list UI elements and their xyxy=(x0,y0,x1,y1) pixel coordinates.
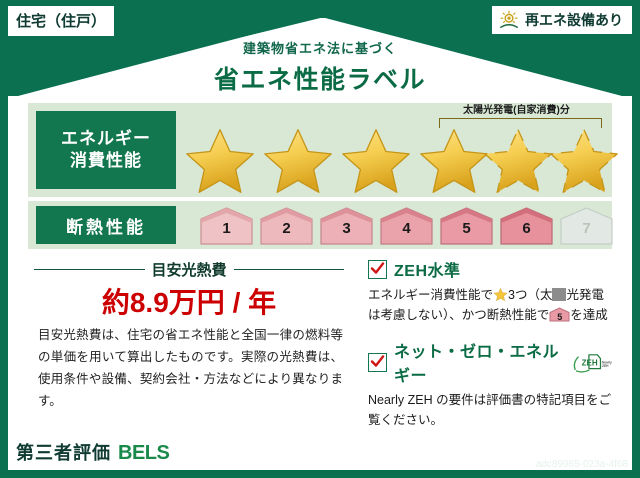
solar-bracket-label: 太陽光発電(自家消費)分 xyxy=(429,105,604,117)
insulation-badge-2: 2 xyxy=(258,205,315,245)
insulation-badge-3: 3 xyxy=(318,205,375,245)
inline-star-icon xyxy=(493,287,508,302)
renewable-energy-label: 再エネ設備あり xyxy=(525,10,623,30)
insulation-badge-5: 5 xyxy=(438,205,495,245)
cost-heading: 目安光熱費 xyxy=(152,259,227,280)
footer-left: 第三者評価 BELS Verde 302 xyxy=(8,435,252,470)
header-subtitle: 建築物省エネ法に基づく xyxy=(0,38,640,57)
check-icon xyxy=(370,354,385,369)
cost-value: 約8.9万円 / 年 xyxy=(34,281,344,321)
building-name: Verde xyxy=(186,445,221,460)
insulation-badge-3-num: 3 xyxy=(318,220,375,237)
star-1 xyxy=(182,125,258,197)
zeh-house-logo: ZEH Nearly ZEH xyxy=(572,351,612,374)
energy-performance-row: エネルギー 消費性能 太陽光発電(自家消費)分 xyxy=(28,103,612,197)
star-6-solar xyxy=(546,125,622,197)
cost-note: 目安光熱費は、住宅の省エネ性能と全国一律の燃料等の単価を用いて算出したものです。… xyxy=(38,325,343,413)
insulation-badge-4: 4 xyxy=(378,205,435,245)
bels-jp-label: 第三者評価 xyxy=(16,439,111,465)
insulation-badge-2-num: 2 xyxy=(258,220,315,237)
energy-label-line2: 消費性能 xyxy=(70,150,142,172)
insulation-badge-6: 6 xyxy=(498,205,555,245)
svg-text:ZEH: ZEH xyxy=(582,358,598,367)
bels-energy-label: 住宅（住戸） 再エネ設備あり 建築物省エネ法に基づく 省エネ性能ラベル xyxy=(0,0,640,478)
zeh-netzero-row: ネット・ゼロ・エネルギー ZEH Nearly ZEH xyxy=(368,338,612,386)
evaluation-date: 評価日 2025年11月26日 xyxy=(468,436,628,457)
solar-self-consumption-bracket: 太陽光発電(自家消費)分 xyxy=(429,105,604,127)
insulation-badge-5-num: 5 xyxy=(438,220,495,237)
renewable-energy-badge: 再エネ設備あり xyxy=(492,6,632,34)
energy-star-rating: 太陽光発電(自家消費)分 xyxy=(180,103,612,197)
inline-badge-num: 5 xyxy=(549,310,570,324)
zeh-desc-part1: エネルギー消費性能で xyxy=(368,288,493,302)
inline-insulation-badge: 5 xyxy=(549,307,570,322)
label-header: 建築物省エネ法に基づく 省エネ性能ラベル xyxy=(0,38,640,96)
header-title: 省エネ性能ラベル xyxy=(0,60,640,96)
bels-badge: 第三者評価 BELS xyxy=(8,435,177,470)
redacted-character xyxy=(552,288,566,301)
insulation-level-badges: 1 2 3 4 5 xyxy=(198,205,615,245)
energy-performance-label: エネルギー 消費性能 xyxy=(36,111,176,189)
energy-label-line1: エネルギー xyxy=(61,128,151,150)
evaluation-id: adc89965-023a-4f68 xyxy=(468,459,628,470)
footer-right: 評価日 2025年11月26日 adc89965-023a-4f68 xyxy=(468,436,628,470)
label-content-panel: エネルギー 消費性能 太陽光発電(自家消費)分 xyxy=(20,99,620,422)
insulation-badge-4-num: 4 xyxy=(378,220,435,237)
zeh-standard-desc: エネルギー消費性能で3つ（太光発電は考慮しない）、かつ断熱性能で5を達成 xyxy=(368,285,612,325)
cost-rule-left xyxy=(34,269,145,271)
zeh-desc-star: 3つ（太 xyxy=(508,288,552,302)
zeh-standard-checkbox xyxy=(368,260,387,279)
zeh-netzero-checkbox xyxy=(368,353,387,372)
star-3 xyxy=(338,125,414,197)
insulation-badge-7-num: 7 xyxy=(558,220,615,237)
zeh-section: ZEH水準 エネルギー消費性能で3つ（太光発電は考慮しない）、かつ断熱性能で5を… xyxy=(368,257,612,430)
category-tag: 住宅（住戸） xyxy=(8,6,114,36)
star-2 xyxy=(260,125,336,197)
insulation-badge-1: 1 xyxy=(198,205,255,245)
zeh-standard-row: ZEH水準 xyxy=(368,257,612,281)
check-icon xyxy=(370,261,385,276)
bels-en-label: BELS xyxy=(118,442,169,465)
zeh-netzero-title: ネット・ゼロ・エネルギー xyxy=(394,338,565,386)
cost-heading-row: 目安光熱費 xyxy=(34,259,344,280)
zeh-netzero-block: ネット・ゼロ・エネルギー ZEH Nearly ZEH Nearly ZEH の… xyxy=(368,338,612,430)
star-5-solar xyxy=(480,125,556,197)
insulation-badge-6-num: 6 xyxy=(498,220,555,237)
insulation-performance-row: 断熱性能 1 2 3 4 xyxy=(28,201,612,249)
insulation-performance-label: 断熱性能 xyxy=(36,206,176,244)
zeh-standard-title: ZEH水準 xyxy=(394,257,461,281)
zeh-netzero-desc: Nearly ZEH の要件は評価書の特記項目をご覧ください。 xyxy=(368,390,612,430)
insulation-badge-1-num: 1 xyxy=(198,220,255,237)
zeh-desc-part3: を達成 xyxy=(570,308,608,322)
insulation-badge-7: 7 xyxy=(558,205,615,245)
unit-number: 302 xyxy=(231,445,253,460)
cost-rule-right xyxy=(234,269,345,271)
sun-icon xyxy=(498,10,520,30)
svg-text:ZEH: ZEH xyxy=(602,364,609,368)
